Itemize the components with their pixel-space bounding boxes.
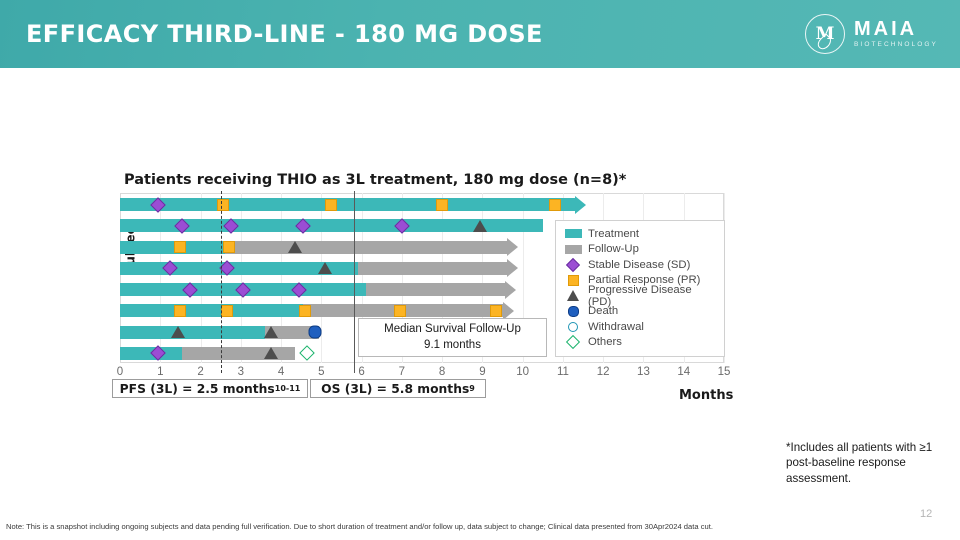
event-marker-partial-response	[490, 305, 502, 317]
os-superscript: 9	[469, 384, 475, 393]
chart-title: Patients receiving THIO as 3L treatment,…	[124, 172, 626, 188]
event-marker-partial-response	[217, 199, 229, 211]
x-tick-label: 10	[516, 366, 529, 378]
legend-label: Others	[588, 336, 622, 348]
pfs-stat-box: PFS (3L) = 2.5 months10-11	[112, 379, 308, 398]
event-marker-partial-response	[174, 241, 186, 253]
x-tick-label: 3	[238, 366, 244, 378]
followup-segment	[225, 241, 507, 254]
legend-item-followup: Follow-Up	[563, 242, 717, 258]
logo-name: MAIA	[854, 19, 938, 39]
os-stat-box: OS (3L) = 5.8 months9	[310, 379, 486, 398]
followup-segment	[182, 347, 295, 360]
swatch-shape	[565, 229, 582, 238]
x-tick-label: 7	[399, 366, 405, 378]
x-tick-label: 9	[479, 366, 485, 378]
legend-swatch-partial-response-icon	[563, 275, 583, 286]
legend-item-withdrawal: Withdrawal	[563, 319, 717, 335]
event-marker-partial-response	[223, 241, 235, 253]
event-marker-partial-response	[221, 305, 233, 317]
treatment-segment	[120, 241, 225, 254]
legend-item-treatment: Treatment	[563, 226, 717, 242]
legend-item-progressive-disease: Progressive Disease (PD)	[563, 288, 717, 304]
treatment-segment	[120, 326, 265, 339]
event-marker-partial-response	[174, 305, 186, 317]
ongoing-arrow-icon	[507, 259, 518, 277]
event-marker-partial-response	[325, 199, 337, 211]
pfs-superscript: 10-11	[275, 384, 301, 393]
pfs-label: PFS (3L) = 2.5 months	[120, 382, 275, 396]
ongoing-arrow-icon	[575, 196, 586, 214]
event-marker-death	[309, 326, 322, 339]
event-marker-progressive-disease	[171, 326, 185, 338]
legend-item-stable-disease: Stable Disease (SD)	[563, 257, 717, 273]
swatch-shape	[568, 322, 578, 332]
legend-swatch-others-icon	[563, 337, 583, 347]
logo-subtitle: BIOTECHNOLOGY	[854, 42, 938, 49]
event-marker-others	[299, 346, 315, 362]
legend-swatch-withdrawal-icon	[563, 322, 583, 332]
maia-logo: M MAIA BIOTECHNOLOGY	[805, 14, 938, 54]
legend-label: Stable Disease (SD)	[588, 259, 690, 271]
event-marker-progressive-disease	[473, 220, 487, 232]
x-tick-label: 1	[157, 366, 163, 378]
event-marker-progressive-disease	[264, 347, 278, 359]
reference-line-os	[354, 191, 355, 373]
legend-swatch-progressive-disease-icon	[563, 290, 583, 301]
swatch-shape	[568, 306, 579, 317]
subject-row	[120, 198, 724, 211]
chart-legend: TreatmentFollow-UpStable Disease (SD)Par…	[555, 220, 725, 357]
event-marker-progressive-disease	[318, 262, 332, 274]
x-tick-label: 0	[117, 366, 123, 378]
bottom-note: Note: This is a snapshot including ongoi…	[6, 522, 713, 531]
legend-label: Progressive Disease (PD)	[588, 284, 717, 308]
median-survival-line1: Median Survival Follow-Up	[384, 322, 521, 338]
legend-item-others: Others	[563, 335, 717, 351]
page-number: 12	[920, 508, 932, 520]
median-survival-line2: 9.1 months	[424, 338, 481, 354]
x-tick-label: 2	[197, 366, 203, 378]
x-tick-label: 11	[557, 366, 569, 378]
event-marker-progressive-disease	[288, 241, 302, 253]
page-title: EFFICACY THIRD-LINE - 180 MG DOSE	[26, 20, 543, 48]
event-marker-partial-response	[549, 199, 561, 211]
legend-swatch-death-icon	[563, 306, 583, 317]
ongoing-arrow-icon	[505, 281, 516, 299]
x-tick-label: 14	[677, 366, 690, 378]
legend-label: Withdrawal	[588, 321, 644, 333]
event-marker-partial-response	[394, 305, 406, 317]
maia-monogram-icon: M	[805, 14, 845, 54]
swatch-shape	[568, 275, 579, 286]
x-tick-label: 6	[358, 366, 364, 378]
swatch-shape	[567, 290, 579, 301]
legend-swatch-stable-disease-icon	[563, 260, 583, 270]
followup-segment	[366, 283, 505, 296]
event-marker-progressive-disease	[264, 326, 278, 338]
swatch-shape	[566, 335, 580, 349]
reference-line-pfs	[221, 191, 222, 373]
legend-swatch-treatment-icon	[563, 229, 583, 238]
event-marker-partial-response	[436, 199, 448, 211]
event-marker-partial-response	[299, 305, 311, 317]
slide-header: EFFICACY THIRD-LINE - 180 MG DOSE M MAIA…	[0, 0, 960, 68]
legend-label: Treatment	[588, 228, 639, 240]
os-label: OS (3L) = 5.8 months	[321, 382, 469, 396]
x-tick-label: 15	[718, 366, 731, 378]
swatch-shape	[565, 245, 582, 254]
x-tick-label: 5	[318, 366, 324, 378]
median-survival-callout: Median Survival Follow-Up 9.1 months	[358, 318, 547, 357]
treatment-segment	[120, 198, 575, 211]
x-axis-label: Months	[679, 388, 733, 403]
x-tick-label: 12	[597, 366, 610, 378]
x-tick-label: 4	[278, 366, 284, 378]
treatment-segment	[120, 304, 303, 317]
logo-wordmark: MAIA BIOTECHNOLOGY	[854, 19, 938, 49]
ongoing-arrow-icon	[507, 238, 518, 256]
x-tick-label: 8	[439, 366, 445, 378]
legend-label: Follow-Up	[588, 243, 639, 255]
asterisk-footnote: *Includes all patients with ≥1 post-base…	[786, 440, 936, 486]
legend-swatch-followup-icon	[563, 245, 583, 254]
swatch-shape	[566, 258, 580, 272]
x-tick-label: 13	[637, 366, 650, 378]
legend-label: Death	[588, 305, 618, 317]
followup-segment	[358, 262, 507, 275]
